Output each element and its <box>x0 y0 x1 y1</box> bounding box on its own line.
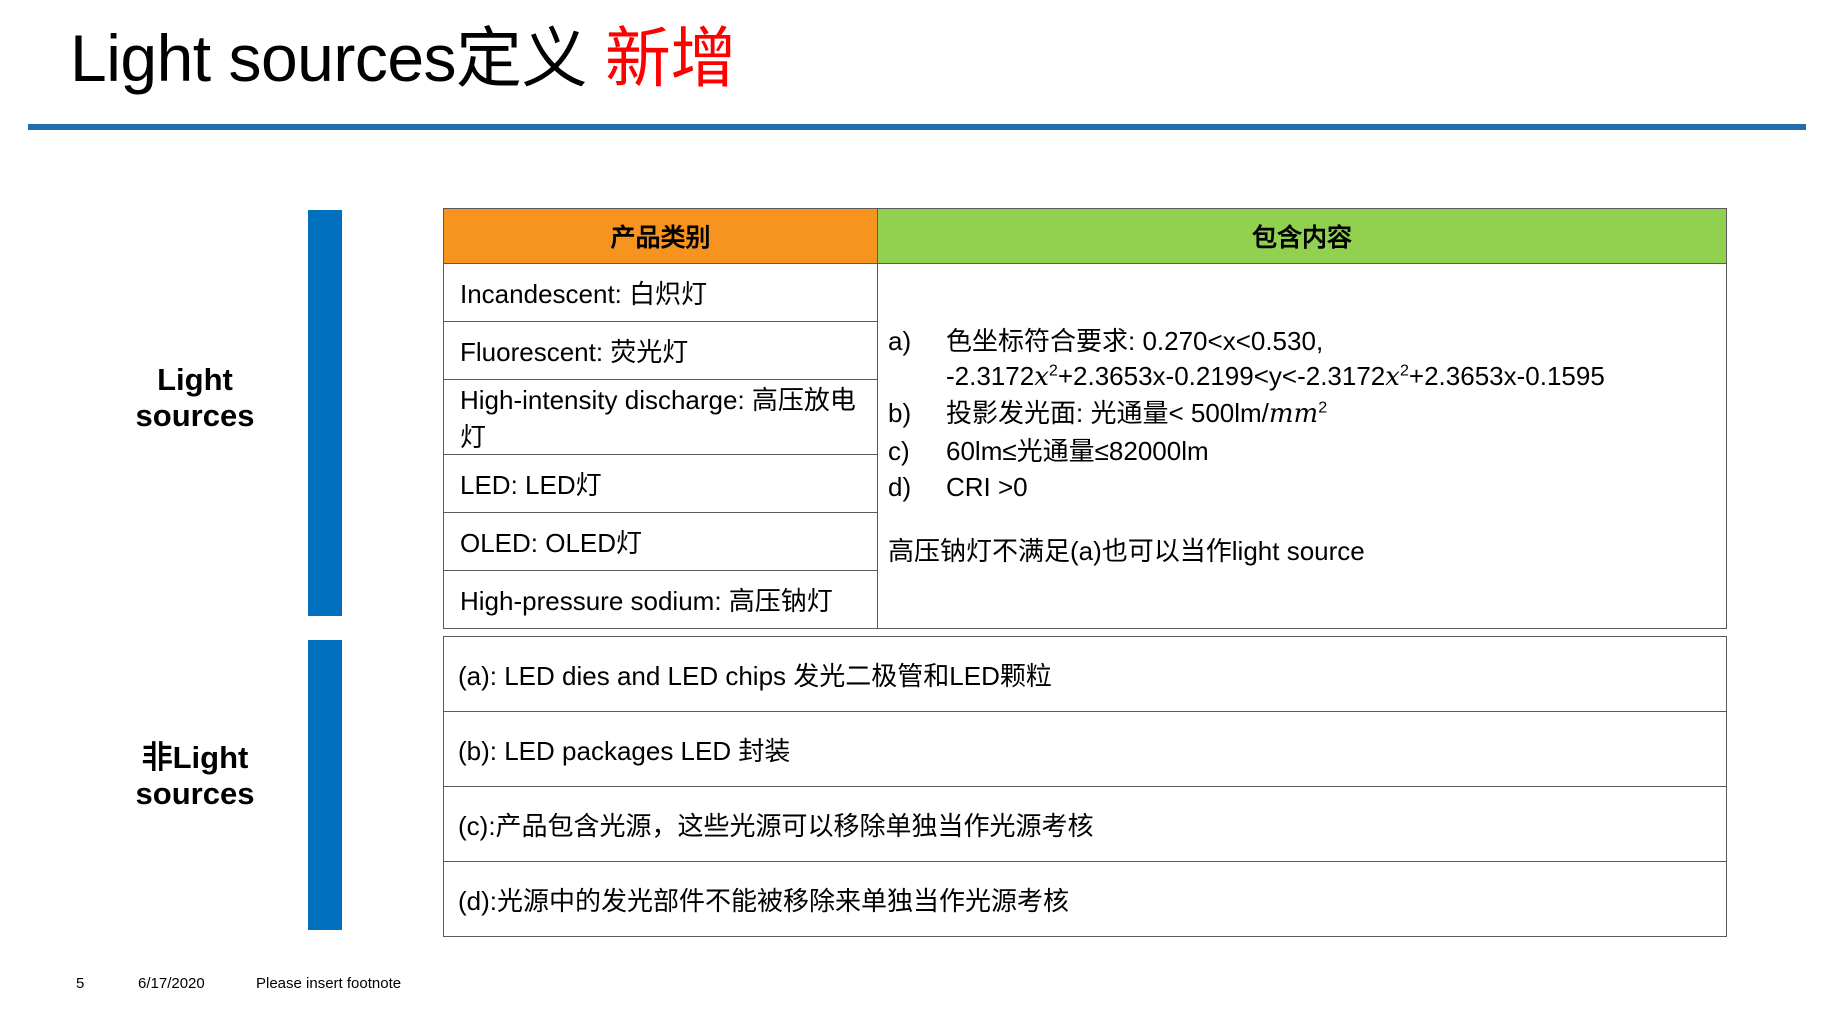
category-cell: Fluorescent: 荧光灯 <box>444 322 878 380</box>
criteria-list: a) 色坐标符合要求: 0.270<x<0.530, -2.3172x2+2.3… <box>888 324 1710 505</box>
slide-footer: 5 6/17/2020 Please insert footnote <box>0 975 1830 1029</box>
criteria-item-a: a) 色坐标符合要求: 0.270<x<0.530, -2.3172x2+2.3… <box>888 324 1710 394</box>
non-light-source-cell: (b): LED packages LED 封装 <box>444 712 1727 787</box>
table-header-row: 产品类别 包含内容 <box>444 209 1727 264</box>
footer-date: 6/17/2020 <box>138 975 205 992</box>
table-row: (c):产品包含光源，这些光源可以移除单独当作光源考核 <box>444 787 1727 862</box>
page-title: Light sources定义 新增 <box>70 22 736 95</box>
table-row: (d):光源中的发光部件不能被移除来单独当作光源考核 <box>444 862 1727 937</box>
title-divider <box>28 124 1806 130</box>
category-cell: Incandescent: 白炽灯 <box>444 264 878 322</box>
category-cell: OLED: OLED灯 <box>444 513 878 571</box>
criteria-marker-c: c) <box>888 434 946 469</box>
criteria-a-line2-post: +2.3653x-0.1595 <box>1409 361 1605 391</box>
criteria-text-a: 色坐标符合要求: 0.270<x<0.530, -2.3172x2+2.3653… <box>946 324 1710 394</box>
criteria-marker-b: b) <box>888 396 946 431</box>
criteria-item-b: b) 投影发光面: 光通量< 500lm/mm2 <box>888 396 1710 432</box>
criteria-a-line2-mid: +2.3653x-0.2199<y<-2.3172 <box>1058 361 1385 391</box>
criteria-b-pre: 投影发光面: 光通量< 500lm/ <box>946 398 1269 428</box>
criteria-a-var2: x <box>1385 362 1400 392</box>
criteria-cell: a) 色坐标符合要求: 0.270<x<0.530, -2.3172x2+2.3… <box>878 264 1727 629</box>
criteria-item-d: d) CRI >0 <box>888 470 1710 505</box>
criteria-marker-a: a) <box>888 324 946 359</box>
criteria-a-line2: -2.3172x2+2.3653x-0.2199<y<-2.3172x2+2.3… <box>946 361 1605 391</box>
column-header-content: 包含内容 <box>878 209 1727 264</box>
criteria-text-c: 60lm≤光通量≤82000lm <box>946 434 1710 469</box>
criteria-a-sup2: 2 <box>1400 361 1409 379</box>
table-row: Incandescent: 白炽灯 a) 色坐标符合要求: 0.270<x<0.… <box>444 264 1727 322</box>
criteria-text-d: CRI >0 <box>946 470 1710 505</box>
criteria-marker-d: d) <box>888 470 946 505</box>
criteria-a-line1: 色坐标符合要求: 0.270<x<0.530, <box>946 326 1323 356</box>
page-title-accent: 新增 <box>605 21 736 95</box>
criteria-b-var: mm <box>1269 399 1318 429</box>
criteria-a-var1: x <box>1034 362 1049 392</box>
category-cell: High-intensity discharge: 高压放电灯 <box>444 380 878 455</box>
category-cell: LED: LED灯 <box>444 455 878 513</box>
criteria-item-c: c) 60lm≤光通量≤82000lm <box>888 434 1710 469</box>
accent-bar-light-sources <box>308 210 342 616</box>
footer-note: Please insert footnote <box>256 975 401 992</box>
table-row: (a): LED dies and LED chips 发光二极管和LED颗粒 <box>444 637 1727 712</box>
criteria-text-b: 投影发光面: 光通量< 500lm/mm2 <box>946 396 1710 432</box>
column-header-category: 产品类别 <box>444 209 878 264</box>
criteria-a-sup1: 2 <box>1049 361 1058 379</box>
criteria-b-sup: 2 <box>1318 399 1327 417</box>
non-light-source-cell: (a): LED dies and LED chips 发光二极管和LED颗粒 <box>444 637 1727 712</box>
table-light-sources: 产品类别 包含内容 Incandescent: 白炽灯 a) 色坐标符合要求: … <box>443 208 1727 629</box>
table-row: (b): LED packages LED 封装 <box>444 712 1727 787</box>
criteria-note: 高压钠灯不满足(a)也可以当作light source <box>888 531 1710 568</box>
footer-page-number: 5 <box>76 975 84 992</box>
non-light-source-cell: (c):产品包含光源，这些光源可以移除单独当作光源考核 <box>444 787 1727 862</box>
criteria-a-line2-pre: -2.3172 <box>946 361 1034 391</box>
page-title-main: Light sources定义 <box>70 21 605 95</box>
category-cell: High-pressure sodium: 高压钠灯 <box>444 571 878 629</box>
accent-bar-non-light-sources <box>308 640 342 930</box>
non-light-source-cell: (d):光源中的发光部件不能被移除来单独当作光源考核 <box>444 862 1727 937</box>
table-non-light-sources: (a): LED dies and LED chips 发光二极管和LED颗粒 … <box>443 636 1727 937</box>
